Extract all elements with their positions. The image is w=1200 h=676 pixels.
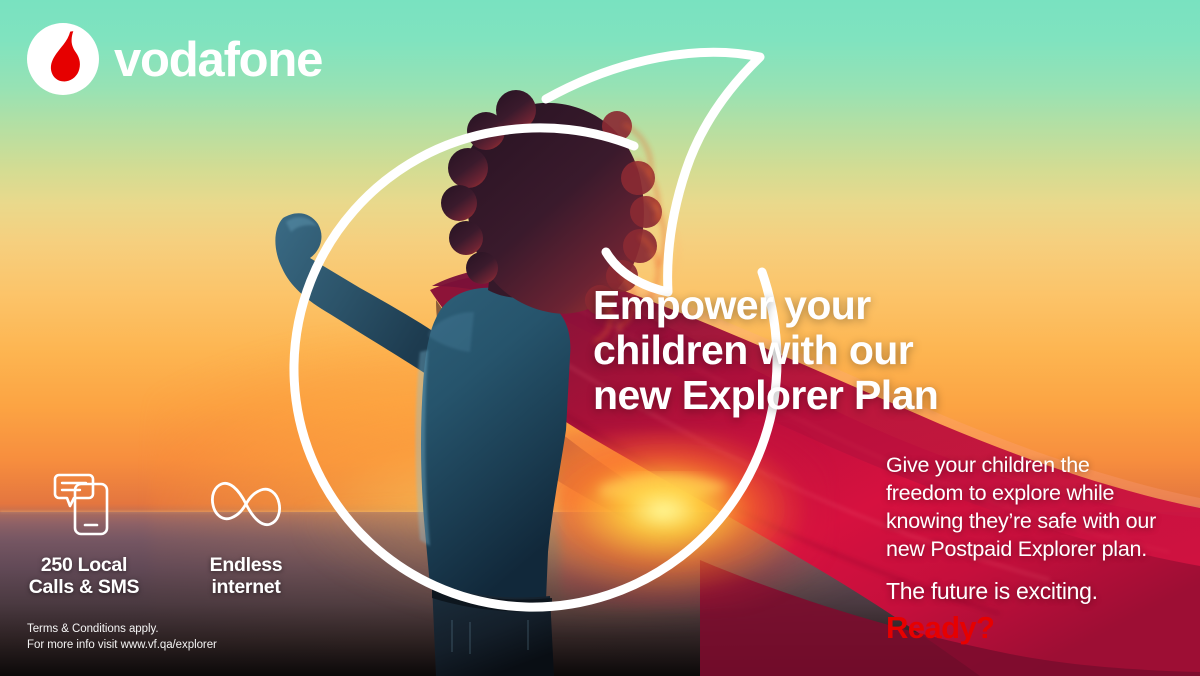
body-line-4: new Postpaid Explorer plan. — [886, 536, 1200, 564]
body-copy: Give your children the freedom to explor… — [886, 452, 1200, 564]
feature-item-calls-sms: 250 Local Calls & SMS — [18, 466, 150, 598]
headline-line-1: Empower your — [593, 283, 1013, 328]
feature-1-label-line-2: internet — [210, 576, 283, 598]
legal-line-1: Terms & Conditions apply. — [27, 622, 217, 638]
legal-disclaimer: Terms & Conditions apply. For more info … — [27, 622, 217, 654]
feature-label-calls-sms: 250 Local Calls & SMS — [29, 554, 139, 598]
feature-item-internet: Endless internet — [180, 466, 312, 598]
ready-cta[interactable]: Ready? — [886, 612, 994, 643]
body-line-1: Give your children the — [886, 452, 1200, 480]
legal-line-2[interactable]: For more info visit www.vf.qa/explorer — [27, 638, 217, 654]
speechmark-hook — [546, 52, 760, 292]
vodafone-logo[interactable]: vodafone — [26, 22, 322, 96]
tagline-text: The future is exciting. — [886, 578, 1098, 605]
feature-0-label-line-2: Calls & SMS — [29, 576, 139, 598]
vodafone-wordmark: vodafone — [114, 36, 322, 85]
advertisement-banner: vodafone Empower your children with our … — [0, 0, 1200, 676]
headline: Empower your children with our new Explo… — [593, 283, 1013, 418]
feature-label-internet: Endless internet — [210, 554, 283, 598]
feature-0-label-line-1: 250 Local — [29, 554, 139, 576]
feature-1-label-line-1: Endless — [210, 554, 283, 576]
vodafone-speechmark-logo-icon — [26, 22, 100, 96]
feature-list: 250 Local Calls & SMS Endless internet — [18, 466, 312, 598]
sms-phone-icon — [46, 466, 122, 542]
body-line-2: freedom to explore while — [886, 480, 1200, 508]
phone-outline — [75, 484, 107, 534]
body-line-3: knowing they’re safe with our — [886, 508, 1200, 536]
infinity-icon-wrap — [204, 466, 288, 542]
infinity-loop-outline — [212, 483, 279, 524]
headline-line-3: new Explorer Plan — [593, 373, 1013, 418]
infinity-icon — [204, 466, 288, 542]
sms-phone-icon-wrap — [46, 466, 122, 542]
headline-line-2: children with our — [593, 328, 1013, 373]
